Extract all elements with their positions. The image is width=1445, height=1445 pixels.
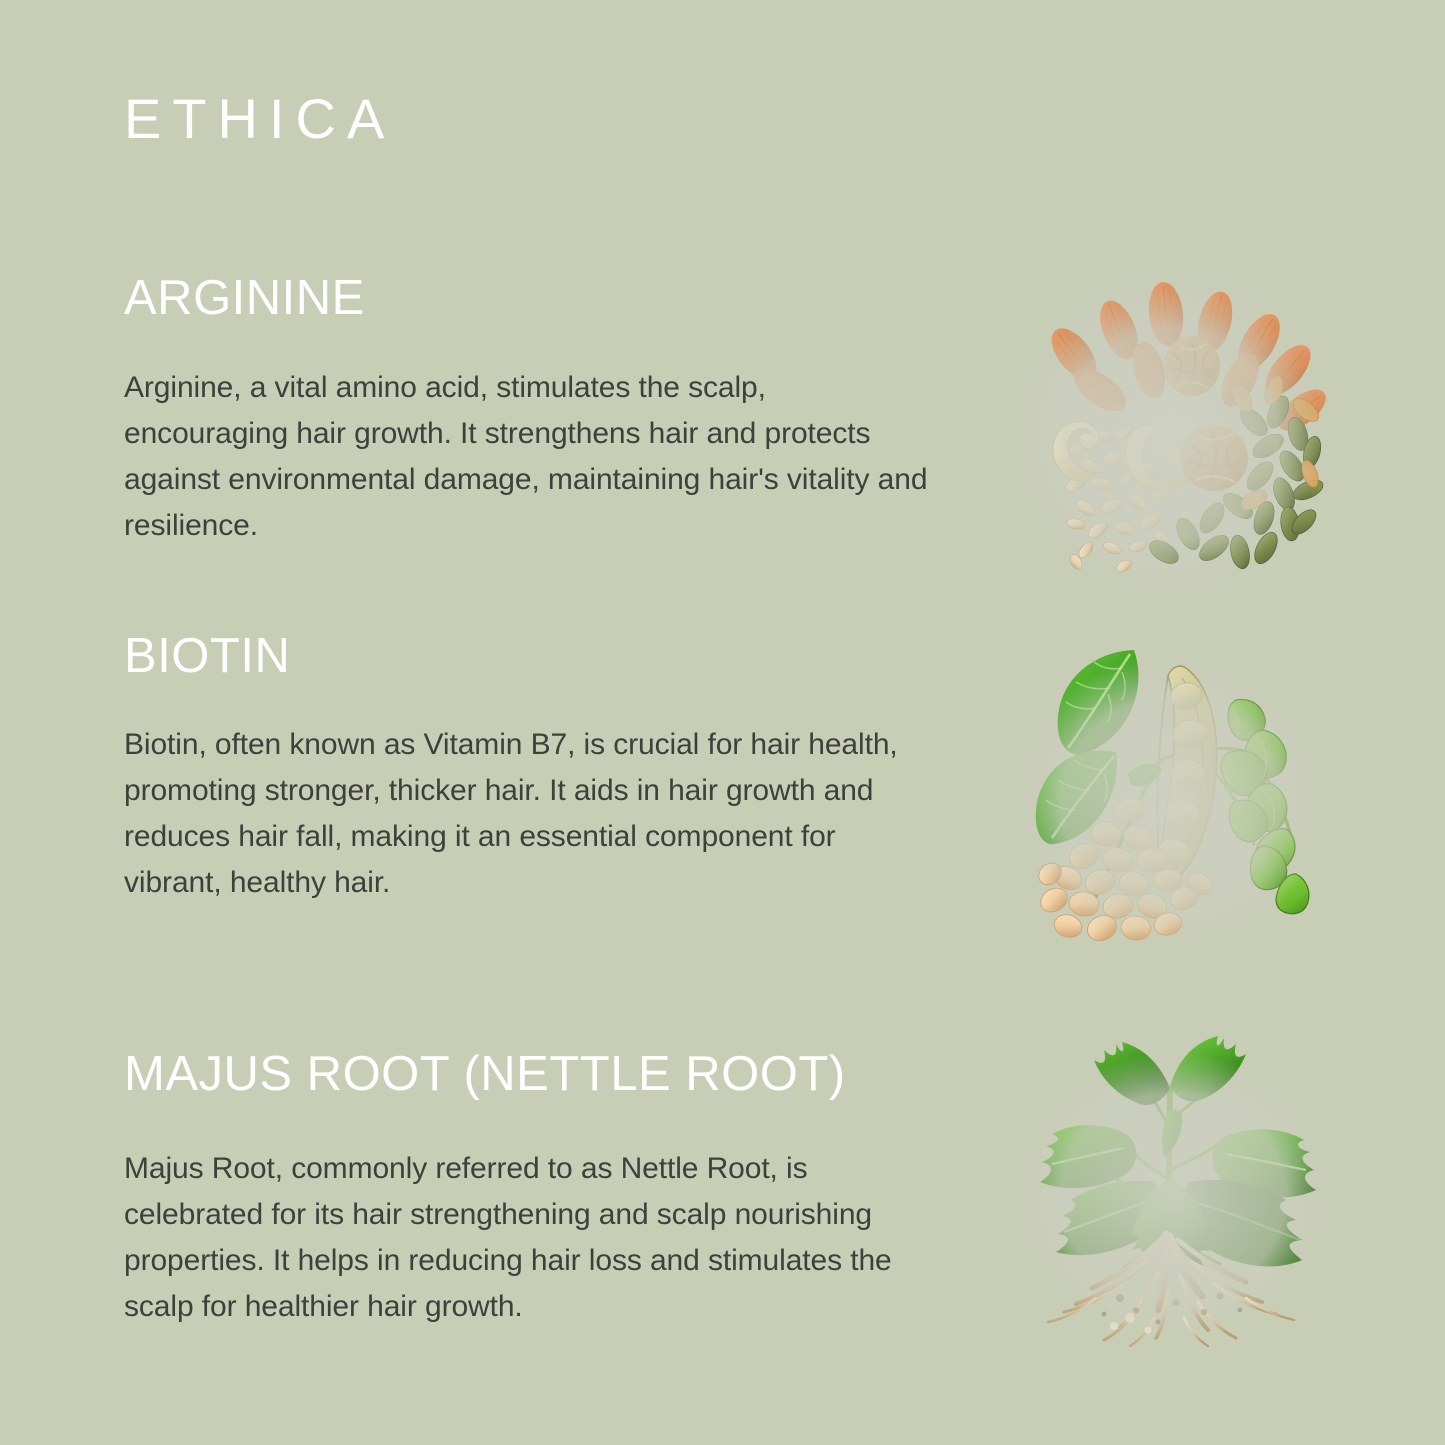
- photo-backdrop-soy: [1010, 634, 1330, 956]
- ingredient-section-biotin: BIOTIN Biotin, often known as Vitamin B7…: [124, 628, 1024, 906]
- ingredient-section-majus-root: MAJUS ROOT (NETTLE ROOT) Majus Root, com…: [124, 1046, 1024, 1330]
- section-body-majus-root: Majus Root, commonly referred to as Nett…: [124, 1146, 894, 1330]
- photo-backdrop-nuts: [1016, 262, 1326, 594]
- section-body-arginine: Arginine, a vital amino acid, stimulates…: [124, 365, 934, 549]
- nettle-plant-with-roots-photo: [1008, 1030, 1338, 1348]
- brand-title: ETHICA: [124, 88, 395, 150]
- product-ingredients-panel: ETHICA ARGININE Arginine, a vital amino …: [0, 0, 1445, 1445]
- mixed-nuts-and-seeds-photo: [1016, 262, 1326, 594]
- section-heading-biotin: BIOTIN: [124, 628, 1024, 684]
- photo-backdrop-nettle: [1008, 1030, 1338, 1348]
- section-body-biotin: Biotin, often known as Vitamin B7, is cr…: [124, 722, 914, 906]
- section-heading-arginine: ARGININE: [124, 270, 1024, 326]
- soybean-plant-photo: [1010, 634, 1330, 956]
- ingredient-section-arginine: ARGININE Arginine, a vital amino acid, s…: [124, 270, 1024, 549]
- section-heading-majus-root: MAJUS ROOT (NETTLE ROOT): [124, 1046, 1024, 1102]
